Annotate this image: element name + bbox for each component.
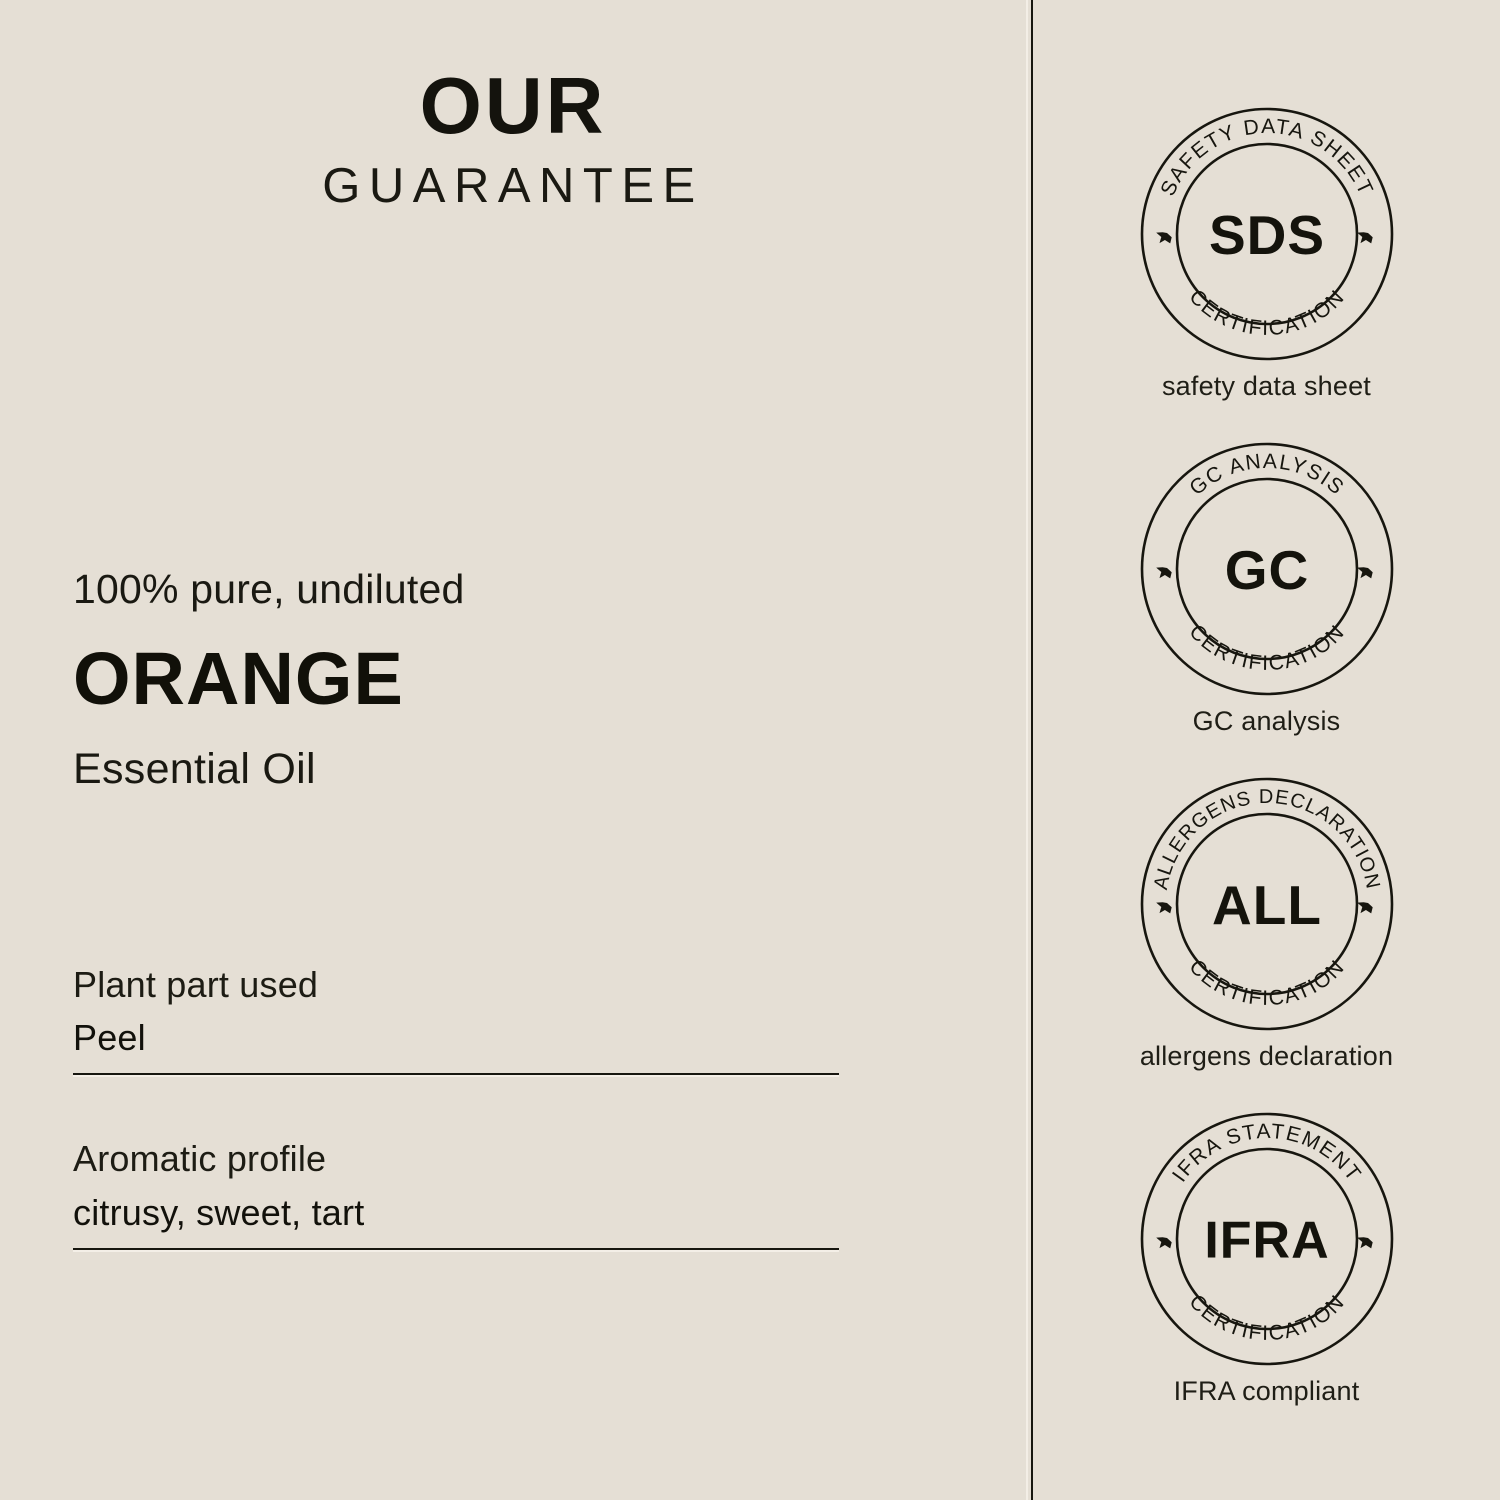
attribute-divider <box>73 1073 839 1075</box>
svg-text:CERTIFICATION: CERTIFICATION <box>1184 620 1349 675</box>
attribute-list: Plant part used Peel Aromatic profile ci… <box>73 963 839 1250</box>
certification-badge-gc: GC ANALYSIS CERTIFICATION GC GC analysis <box>1033 440 1500 737</box>
star-icon-right <box>1357 567 1373 578</box>
product-block: 100% pure, undiluted ORANGE Essential Oi… <box>73 567 953 791</box>
badge-caption: GC analysis <box>1033 706 1500 737</box>
svg-text:CERTIFICATION: CERTIFICATION <box>1184 285 1349 340</box>
seal-arc-bottom: CERTIFICATION <box>1184 285 1349 340</box>
attribute-divider <box>73 1248 839 1250</box>
seal-arc-top: IFRA STATEMENT <box>1168 1120 1366 1186</box>
certification-badge-allergens: ALLERGENS DECLARATION CERTIFICATION ALL … <box>1033 775 1500 1072</box>
certification-badge-ifra: IFRA STATEMENT CERTIFICATION IFRA IFRA c… <box>1033 1110 1500 1407</box>
certification-badge-sds: SAFETY DATA SHEET CERTIFICATION SDS safe… <box>1033 105 1500 402</box>
seal-abbreviation: GC <box>1224 539 1309 601</box>
product-name: ORANGE <box>73 642 953 716</box>
seal-icon: ALLERGENS DECLARATION CERTIFICATION ALL <box>1138 775 1396 1033</box>
seal-icon: GC ANALYSIS CERTIFICATION GC <box>1138 440 1396 698</box>
seal-arc-bottom: CERTIFICATION <box>1184 1290 1349 1345</box>
seal-abbreviation: ALL <box>1212 874 1322 936</box>
svg-text:CERTIFICATION: CERTIFICATION <box>1184 955 1349 1010</box>
seal-abbreviation: IFRA <box>1204 1212 1329 1270</box>
star-icon-left <box>1156 232 1172 243</box>
infographic-page: OUR GUARANTEE 100% pure, undiluted ORANG… <box>0 0 1500 1500</box>
badge-caption: safety data sheet <box>1033 371 1500 402</box>
star-icon-left <box>1156 1237 1172 1248</box>
seal-icon: IFRA STATEMENT CERTIFICATION IFRA <box>1138 1110 1396 1368</box>
seal-arc-bottom: CERTIFICATION <box>1184 955 1349 1010</box>
attribute-value: Peel <box>73 1016 839 1059</box>
certification-panel: SAFETY DATA SHEET CERTIFICATION SDS safe… <box>1033 0 1500 1500</box>
star-icon-right <box>1357 902 1373 913</box>
title-line-our: OUR <box>0 66 1026 146</box>
attribute-value: citrusy, sweet, tart <box>73 1191 839 1234</box>
divider-highlight <box>1026 0 1028 1500</box>
left-panel: OUR GUARANTEE 100% pure, undiluted ORANG… <box>0 0 1026 1500</box>
product-type: Essential Oil <box>73 748 953 791</box>
title-line-guarantee: GUARANTEE <box>0 162 1026 211</box>
badge-caption: IFRA compliant <box>1033 1376 1500 1407</box>
seal-abbreviation: SDS <box>1208 204 1324 266</box>
svg-text:CERTIFICATION: CERTIFICATION <box>1184 1290 1349 1345</box>
page-title: OUR GUARANTEE <box>0 66 1026 211</box>
star-icon-left <box>1156 902 1172 913</box>
attribute-row-aromatic-profile: Aromatic profile citrusy, sweet, tart <box>73 1137 839 1249</box>
attribute-label: Plant part used <box>73 963 839 1006</box>
svg-text:IFRA STATEMENT: IFRA STATEMENT <box>1168 1120 1366 1186</box>
star-icon-left <box>1156 567 1172 578</box>
star-icon-right <box>1357 232 1373 243</box>
attribute-label: Aromatic profile <box>73 1137 839 1180</box>
product-purity-text: 100% pure, undiluted <box>73 567 953 612</box>
badge-caption: allergens declaration <box>1033 1041 1500 1072</box>
star-icon-right <box>1357 1237 1373 1248</box>
attribute-row-plant-part: Plant part used Peel <box>73 963 839 1075</box>
seal-icon: SAFETY DATA SHEET CERTIFICATION SDS <box>1138 105 1396 363</box>
seal-arc-bottom: CERTIFICATION <box>1184 620 1349 675</box>
